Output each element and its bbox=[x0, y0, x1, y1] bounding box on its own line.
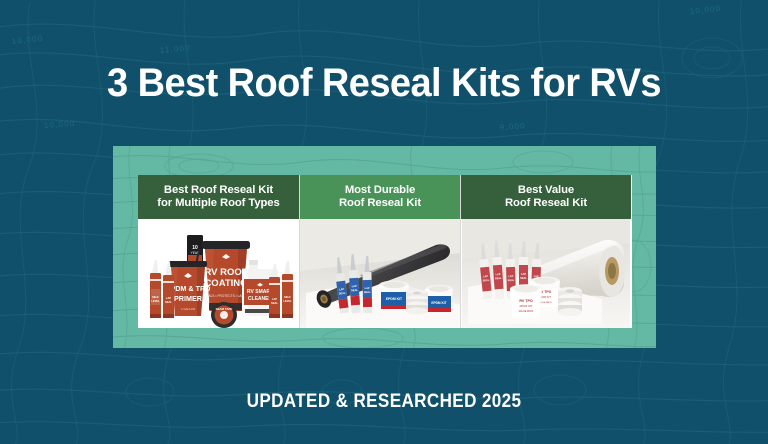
footer-block: UPDATED & RESEARCHED 2025 bbox=[0, 391, 768, 413]
card-3-header-line2: Roof Reseal Kit bbox=[505, 197, 587, 209]
svg-text:LAP: LAP bbox=[339, 287, 345, 292]
svg-text:9,000: 9,000 bbox=[500, 121, 527, 132]
svg-text:SEAL: SEAL bbox=[508, 279, 515, 282]
card-2-product-image: LAP SEAL LAP SEAL bbox=[300, 219, 460, 328]
product-card-1[interactable]: Best Roof Reseal Kit for Multiple Roof T… bbox=[138, 175, 299, 328]
svg-text:SEAL: SEAL bbox=[351, 288, 359, 293]
card-2-header-line2: Roof Reseal Kit bbox=[339, 197, 421, 209]
card-3-header: Best Value Roof Reseal Kit bbox=[461, 175, 631, 219]
card-2-header: Most Durable Roof Reseal Kit bbox=[300, 175, 460, 219]
svg-text:SEAL: SEAL bbox=[520, 277, 527, 280]
product-frame: Best Roof Reseal Kit for Multiple Roof T… bbox=[113, 146, 656, 348]
svg-text:1 GALLON: 1 GALLON bbox=[181, 307, 195, 311]
svg-text:LAP: LAP bbox=[166, 296, 171, 300]
svg-text:11,000: 11,000 bbox=[159, 43, 191, 55]
card-1-header-line2: for Multiple Roof Types bbox=[157, 197, 279, 209]
svg-text:SELF: SELF bbox=[284, 295, 291, 299]
svg-text:SEAM TAPE: SEAM TAPE bbox=[216, 307, 233, 311]
card-1-product-image: 10 YEAR RV bbox=[138, 219, 299, 328]
card-3-product-image: LAP SEAL LAP SEAL bbox=[461, 219, 631, 328]
svg-text:10,000: 10,000 bbox=[689, 4, 721, 16]
svg-text:PRIMER: PRIMER bbox=[174, 294, 203, 303]
card-1-header-line1: Best Roof Reseal Kit bbox=[164, 184, 273, 196]
card-2-header-line1: Most Durable bbox=[345, 184, 415, 196]
page-title: 3 Best Roof Reseal Kits for RVs bbox=[19, 62, 749, 104]
svg-text:LAP: LAP bbox=[508, 275, 513, 278]
svg-text:LAP: LAP bbox=[521, 273, 526, 276]
card-1-header: Best Roof Reseal Kit for Multiple Roof T… bbox=[138, 175, 299, 219]
updated-researched-label: UPDATED & RESEARCHED 2025 bbox=[38, 391, 729, 413]
svg-text:EPDM KIT: EPDM KIT bbox=[431, 301, 446, 305]
product-card-strip: Best Roof Reseal Kit for Multiple Roof T… bbox=[138, 175, 632, 328]
svg-text:LEVEL: LEVEL bbox=[151, 299, 160, 303]
product-card-3[interactable]: Best Value Roof Reseal Kit bbox=[461, 175, 631, 328]
svg-text:LAP: LAP bbox=[272, 297, 277, 301]
product-card-2[interactable]: Most Durable Roof Reseal Kit bbox=[299, 175, 461, 328]
svg-text:10,000: 10,000 bbox=[44, 119, 76, 130]
svg-text:ROOF KIT: ROOF KIT bbox=[520, 304, 533, 308]
svg-text:RV TPO: RV TPO bbox=[519, 299, 533, 303]
poster-canvas: 11,000 10,000 10,000 9,000 10,000 3 Best… bbox=[0, 0, 768, 444]
svg-text:LEVEL: LEVEL bbox=[283, 299, 292, 303]
svg-text:SEAL: SEAL bbox=[364, 290, 371, 294]
svg-text:LAP: LAP bbox=[352, 284, 358, 288]
svg-text:LAP: LAP bbox=[365, 286, 371, 290]
svg-text:SEAL: SEAL bbox=[271, 301, 278, 305]
svg-text:10,000: 10,000 bbox=[11, 34, 43, 46]
svg-text:LAP: LAP bbox=[483, 275, 489, 279]
svg-text:COATING: COATING bbox=[204, 278, 247, 289]
svg-text:RV ROOF: RV ROOF bbox=[204, 267, 247, 278]
title-block: 3 Best Roof Reseal Kits for RVs bbox=[0, 62, 768, 104]
svg-text:SELF: SELF bbox=[152, 295, 159, 299]
svg-text:SEAL: SEAL bbox=[495, 277, 502, 280]
card-3-header-line1: Best Value bbox=[518, 184, 574, 196]
svg-text:VALUE PACK: VALUE PACK bbox=[519, 310, 534, 313]
svg-text:CLEANER: CLEANER bbox=[248, 296, 273, 302]
svg-text:SEALS • PROTECTS • LASTS: SEALS • PROTECTS • LASTS bbox=[204, 294, 248, 298]
svg-text:SEAL: SEAL bbox=[165, 300, 172, 304]
svg-text:LAP: LAP bbox=[495, 273, 501, 276]
svg-text:EPDM KIT: EPDM KIT bbox=[386, 297, 403, 301]
